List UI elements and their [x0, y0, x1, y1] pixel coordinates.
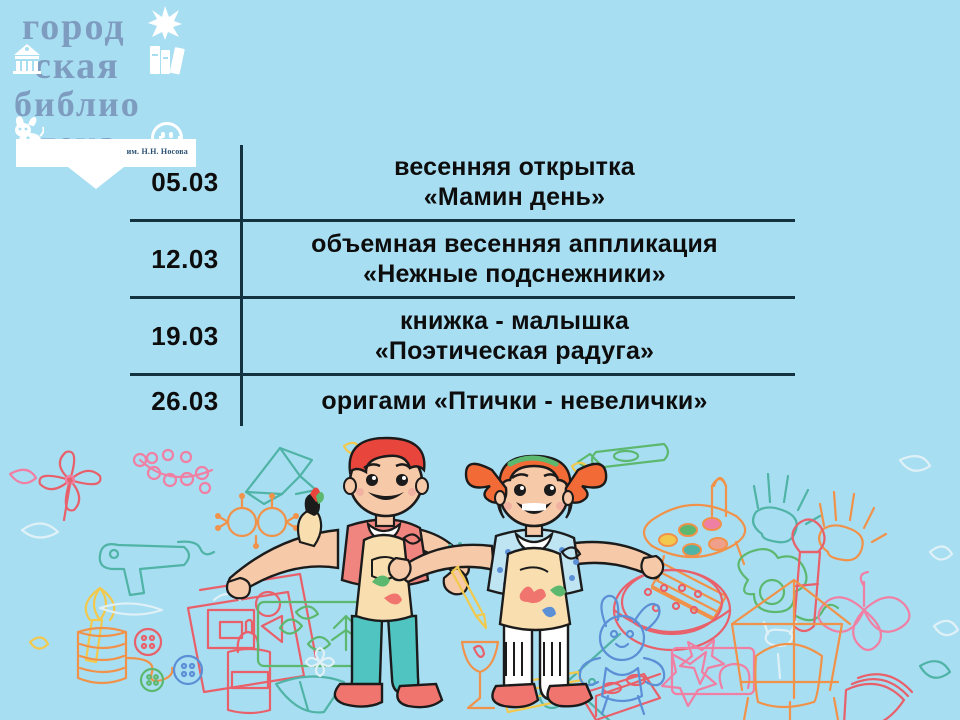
small-flower-doodle — [306, 648, 334, 676]
bead-necklace-doodle — [134, 450, 212, 493]
poster-canvas: город ская библио тека — [0, 0, 960, 720]
table-row: 12.03 объемная весенняя аппликация «Нежн… — [130, 222, 795, 299]
table-row: 05.03 весенняя открытка «Мамин день» — [130, 145, 795, 222]
event-date: 05.03 — [130, 167, 240, 198]
event-title-line: «Мамин день» — [240, 182, 789, 213]
logo-word-skaya: ская — [34, 47, 120, 85]
event-title-line: книжка - малышка — [240, 306, 789, 337]
pinwheel-doodle — [40, 452, 101, 520]
event-date: 26.03 — [130, 386, 240, 417]
glue-gun-doodle — [100, 542, 214, 595]
event-schedule-table: 05.03 весенняя открытка «Мамин день» 12.… — [130, 145, 795, 426]
paper-strips-doodle — [844, 674, 912, 720]
library-building-icon — [10, 42, 44, 76]
kids-crafts-illustration: .d { fill:none; stroke-width:2.2; stroke… — [0, 430, 960, 720]
handprint-doodle — [819, 492, 886, 560]
event-title-line: «Поэтическая радуга» — [240, 336, 789, 367]
event-title: весенняя открытка «Мамин день» — [240, 152, 795, 213]
event-date: 19.03 — [130, 321, 240, 352]
logo-word-gorod: город — [22, 8, 126, 46]
whisk-doodle — [86, 588, 114, 662]
event-title-line: «Нежные подснежники» — [240, 259, 789, 290]
easel-doodle — [732, 580, 850, 720]
event-title-line: оригами «Птички - невелички» — [240, 386, 789, 417]
event-title-line: весенняя открытка — [240, 152, 789, 183]
sponge-doodle — [100, 603, 162, 614]
origami-crane-doodle — [246, 448, 316, 504]
girl-waving — [389, 456, 663, 707]
event-title: оригами «Птички - невелички» — [240, 386, 795, 417]
table-row: 19.03 книжка - малышка «Поэтическая раду… — [130, 299, 795, 376]
thread-spool-doodle — [78, 628, 172, 683]
molecule-doodle — [215, 493, 299, 549]
books-stack-icon — [148, 42, 186, 78]
event-title-line: объемная весенняя аппликация — [240, 229, 789, 260]
event-title: объемная весенняя аппликация «Нежные под… — [240, 229, 795, 290]
star-shape-doodle — [662, 652, 716, 706]
push-pin-doodle — [764, 622, 796, 678]
event-date: 12.03 — [130, 244, 240, 275]
starburst-icon — [148, 6, 182, 40]
table-row: 26.03 оригами «Птички - невелички» — [130, 376, 795, 426]
handprint-doodle — [753, 474, 820, 542]
event-title: книжка - малышка «Поэтическая радуга» — [240, 306, 795, 367]
